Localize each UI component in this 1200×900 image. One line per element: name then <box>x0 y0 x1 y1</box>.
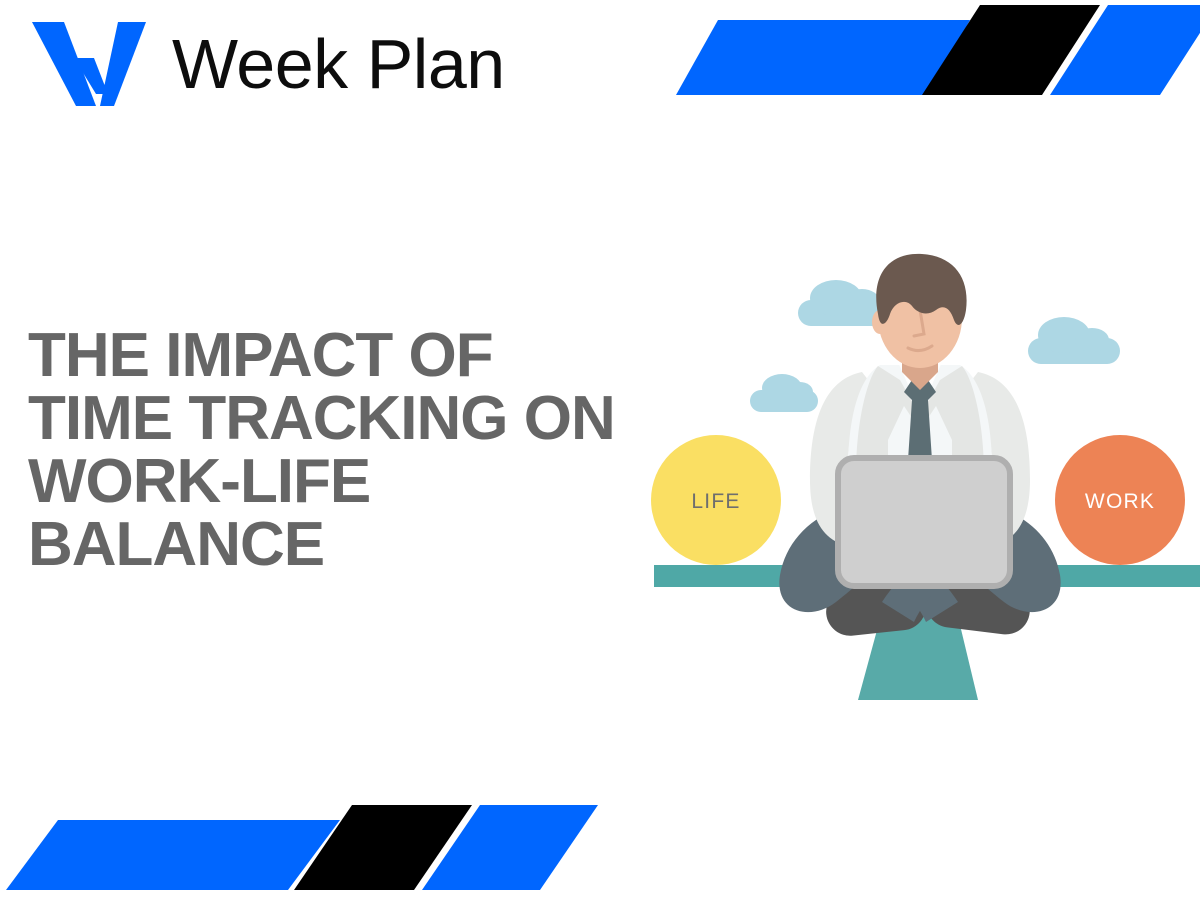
cloud-right <box>1028 317 1120 364</box>
brand-name: Week Plan <box>172 29 505 99</box>
band-blue-long <box>676 20 970 95</box>
work-life-balance-illustration: LIFE WORK <box>640 230 1200 710</box>
week-plan-w-logo-icon <box>30 18 150 110</box>
decor-bands-bottom-left <box>0 790 620 900</box>
poster-canvas: Week Plan The impact of time tracking on… <box>0 0 1200 900</box>
laptop <box>838 458 1010 586</box>
band-blue-long <box>6 820 340 890</box>
life-label: LIFE <box>691 490 740 513</box>
brand-header: Week Plan <box>30 18 505 110</box>
cloud-left <box>750 374 818 412</box>
page-title: The impact of time tracking on work-life… <box>28 324 628 577</box>
decor-bands-top-right <box>660 0 1200 125</box>
work-label: WORK <box>1085 490 1155 513</box>
